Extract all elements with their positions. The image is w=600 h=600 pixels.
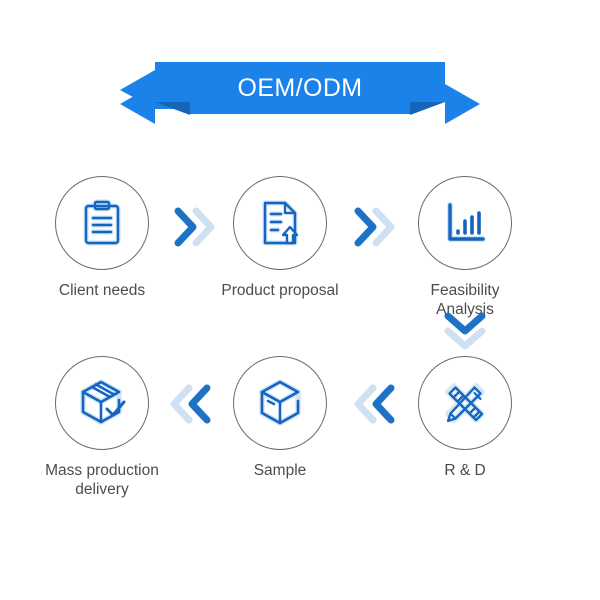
step-client-needs[interactable]: Client needs <box>37 176 167 300</box>
connector-2 <box>352 203 398 251</box>
connector-1 <box>172 203 218 251</box>
step-label: Product proposal <box>215 281 345 300</box>
double-chevron-down-icon <box>440 308 490 352</box>
clipboard-icon <box>76 197 128 249</box>
step-label: R & D <box>400 461 530 480</box>
step-product-proposal[interactable]: Product proposal <box>215 176 345 300</box>
step-circle <box>55 176 149 270</box>
step-circle <box>233 176 327 270</box>
step-rnd[interactable]: R & D <box>400 356 530 480</box>
box-check-icon <box>75 376 129 430</box>
cube-icon <box>253 376 307 430</box>
connector-3 <box>440 308 490 352</box>
step-circle <box>418 356 512 450</box>
document-upload-icon <box>254 197 306 249</box>
ribbon-banner <box>0 62 600 140</box>
step-circle <box>418 176 512 270</box>
step-label: Mass production delivery <box>37 461 167 500</box>
double-chevron-left-icon <box>168 380 214 428</box>
double-chevron-right-icon <box>352 203 398 251</box>
connector-4 <box>168 380 214 428</box>
step-feasibility-analysis[interactable]: Feasibility Analysis <box>400 176 530 320</box>
bar-chart-icon <box>439 197 491 249</box>
step-circle <box>233 356 327 450</box>
diagram-canvas: OEM/ODM <box>0 0 600 600</box>
ribbon-body <box>190 62 410 114</box>
step-label: Sample <box>215 461 345 480</box>
step-circle <box>55 356 149 450</box>
pencil-ruler-icon <box>439 377 491 429</box>
ribbon-right-tail <box>410 62 480 124</box>
step-mass-production-delivery[interactable]: Mass production delivery <box>37 356 167 500</box>
step-sample[interactable]: Sample <box>215 356 345 480</box>
connector-5 <box>352 380 398 428</box>
step-label: Client needs <box>37 281 167 300</box>
double-chevron-left-icon <box>352 380 398 428</box>
double-chevron-right-icon <box>172 203 218 251</box>
